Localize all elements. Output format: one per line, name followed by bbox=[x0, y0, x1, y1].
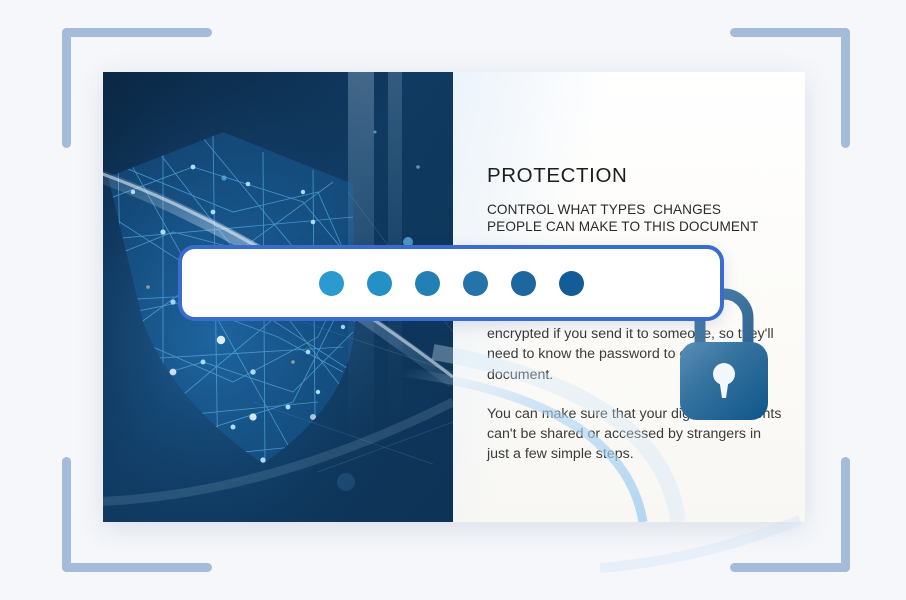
bracket-arm-horizontal bbox=[730, 563, 850, 572]
bracket-arm-horizontal bbox=[62, 28, 212, 37]
document-heading-block: PROTECTION CONTROL WHAT TYPES CHANGES PE… bbox=[487, 164, 787, 235]
password-dot bbox=[559, 271, 584, 296]
bracket-arm-vertical bbox=[62, 28, 71, 148]
bracket-arm-vertical bbox=[841, 28, 850, 148]
page-title: PROTECTION bbox=[487, 164, 787, 188]
bracket-arm-horizontal bbox=[62, 563, 212, 572]
password-input[interactable] bbox=[178, 245, 724, 321]
bracket-arm-vertical bbox=[62, 457, 71, 572]
bracket-arm-horizontal bbox=[730, 28, 850, 37]
password-dot bbox=[367, 271, 392, 296]
screenshot-stage: PROTECTION CONTROL WHAT TYPES CHANGES PE… bbox=[0, 0, 906, 600]
password-masked-dots bbox=[319, 271, 584, 296]
subheading-line-1: CONTROL WHAT TYPES CHANGES bbox=[487, 201, 787, 218]
password-dot bbox=[463, 271, 488, 296]
password-dot bbox=[511, 271, 536, 296]
subheading-line-2: PEOPLE CAN MAKE TO THIS DOCUMENT bbox=[487, 218, 787, 235]
password-dot bbox=[415, 271, 440, 296]
bracket-arm-vertical bbox=[841, 457, 850, 572]
password-dot bbox=[319, 271, 344, 296]
